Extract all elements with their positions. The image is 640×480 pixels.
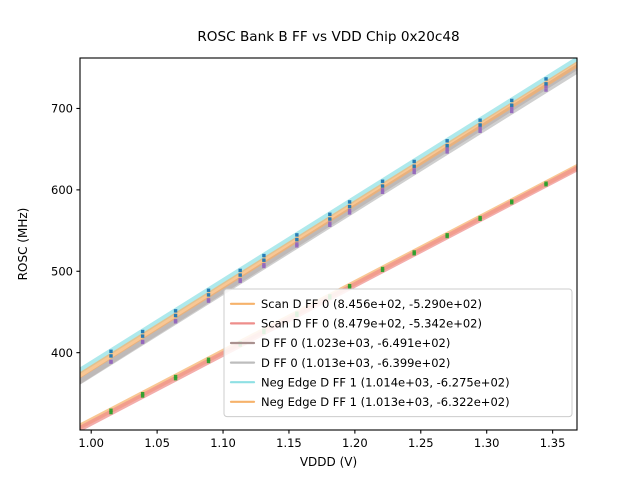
legend-item-3[interactable]: D FF 0 (1.013e+03, -6.399e+02) <box>231 356 450 370</box>
legend-item-0[interactable]: Scan D FF 0 (8.456e+02, -5.290e+02) <box>231 297 482 311</box>
legend-item-1[interactable]: Scan D FF 0 (8.479e+02, -5.342e+02) <box>231 317 482 331</box>
legend-item-5[interactable]: Neg Edge D FF 1 (1.013e+03, -6.322e+02) <box>231 395 510 409</box>
chart-legend[interactable]: Scan D FF 0 (8.456e+02, -5.290e+02)Scan … <box>224 289 572 417</box>
data-point <box>381 191 384 194</box>
y-tick-label: 600 <box>51 183 73 197</box>
legend-label: D FF 0 (1.023e+03, -6.491e+02) <box>261 336 450 350</box>
rosc-vs-vdd-chart: ROSC Bank B FF vs VDD Chip 0x20c481.001.… <box>0 0 640 480</box>
data-point <box>445 150 448 153</box>
y-axis-title: ROSC (MHz) <box>16 208 30 281</box>
data-point <box>544 77 547 80</box>
data-point <box>295 244 298 247</box>
data-point <box>510 110 513 113</box>
data-point <box>109 411 112 414</box>
data-point <box>109 354 112 357</box>
data-point <box>478 118 481 121</box>
data-point <box>412 160 415 163</box>
data-point <box>348 200 351 203</box>
data-point <box>328 224 331 227</box>
x-tick-label: 1.10 <box>210 436 236 450</box>
data-point <box>510 107 513 110</box>
data-point <box>510 201 513 204</box>
legend-item-4[interactable]: Neg Edge D FF 1 (1.014e+03, -6.275e+02) <box>231 375 510 389</box>
data-point <box>478 130 481 133</box>
data-point <box>381 180 384 183</box>
x-tick-label: 1.30 <box>474 436 500 450</box>
data-point <box>207 289 210 292</box>
x-tick-label: 1.15 <box>276 436 302 450</box>
data-point <box>381 269 384 272</box>
data-point <box>174 309 177 312</box>
figure-canvas: ROSC Bank B FF vs VDD Chip 0x20c481.001.… <box>0 0 640 480</box>
data-point <box>238 269 241 272</box>
data-point <box>207 299 210 302</box>
data-point <box>478 123 481 126</box>
data-point <box>141 330 144 333</box>
y-tick-label: 500 <box>51 264 73 278</box>
legend-label: D FF 0 (1.013e+03, -6.399e+02) <box>261 356 450 370</box>
x-tick-label: 1.05 <box>144 436 170 450</box>
data-point <box>238 280 241 283</box>
chart-title: ROSC Bank B FF vs VDD Chip 0x20c48 <box>197 29 459 45</box>
data-point <box>295 233 298 236</box>
y-tick-label: 700 <box>51 102 73 116</box>
data-point <box>207 293 210 296</box>
data-point <box>445 139 448 142</box>
data-point <box>141 341 144 344</box>
x-tick-label: 1.20 <box>342 436 368 450</box>
data-point <box>478 126 481 129</box>
data-point <box>328 217 331 220</box>
legend-label: Scan D FF 0 (8.479e+02, -5.342e+02) <box>261 317 482 331</box>
data-point <box>109 350 112 353</box>
data-point <box>412 171 415 174</box>
x-tick-label: 1.25 <box>408 436 434 450</box>
data-point <box>445 144 448 147</box>
data-point <box>445 147 448 150</box>
data-point <box>412 252 415 255</box>
data-point <box>544 82 547 85</box>
legend-label: Scan D FF 0 (8.456e+02, -5.290e+02) <box>261 297 482 311</box>
x-axis-title: VDDD (V) <box>300 455 357 469</box>
data-point <box>510 99 513 102</box>
data-point <box>295 238 298 241</box>
data-point <box>328 213 331 216</box>
data-point <box>174 314 177 317</box>
data-point <box>174 320 177 323</box>
data-point <box>544 183 547 186</box>
data-point <box>348 211 351 214</box>
data-point <box>348 205 351 208</box>
legend-label: Neg Edge D FF 1 (1.014e+03, -6.275e+02) <box>261 375 510 389</box>
data-point <box>262 265 265 268</box>
data-point <box>478 218 481 221</box>
data-point <box>141 334 144 337</box>
data-point <box>445 235 448 238</box>
data-point <box>510 104 513 107</box>
y-tick-label: 400 <box>51 346 73 360</box>
data-point <box>262 258 265 261</box>
x-axis: 1.001.051.101.151.201.251.301.35 <box>78 430 565 450</box>
data-point <box>544 88 547 91</box>
data-point <box>109 360 112 363</box>
legend-label: Neg Edge D FF 1 (1.013e+03, -6.322e+02) <box>261 395 510 409</box>
data-point <box>381 184 384 187</box>
legend-item-2[interactable]: D FF 0 (1.023e+03, -6.491e+02) <box>231 336 450 350</box>
data-point <box>141 394 144 397</box>
data-point <box>207 360 210 363</box>
data-point <box>412 165 415 168</box>
data-point <box>262 254 265 257</box>
x-tick-label: 1.35 <box>540 436 566 450</box>
data-point <box>238 273 241 276</box>
data-point <box>174 377 177 380</box>
y-axis: 400500600700 <box>51 102 80 360</box>
x-tick-label: 1.00 <box>78 436 104 450</box>
